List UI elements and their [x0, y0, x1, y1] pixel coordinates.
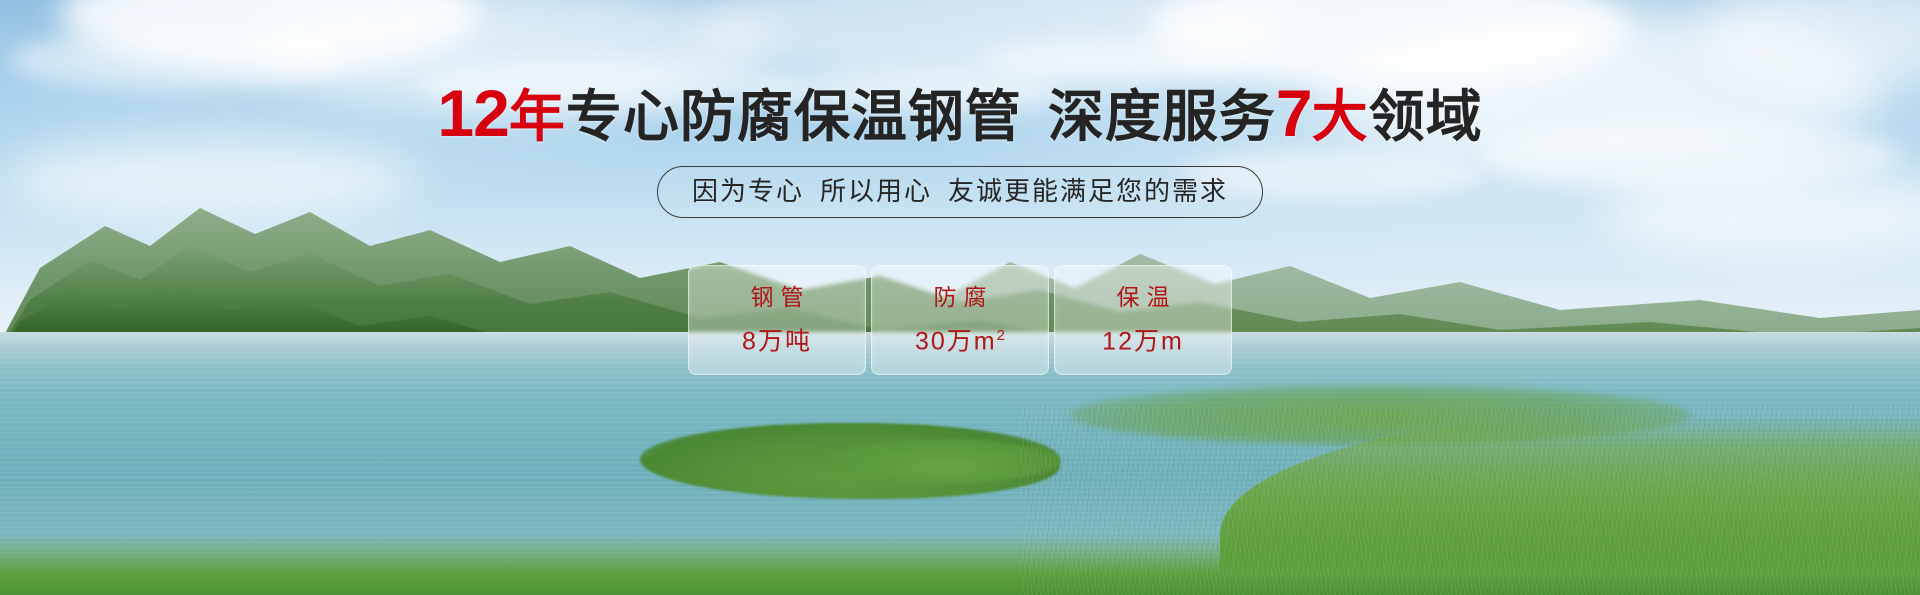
- headline-part-c: 大: [1312, 85, 1369, 148]
- stat-card-label: 防腐: [927, 284, 994, 310]
- stat-card: 防腐 30万m2: [871, 265, 1049, 375]
- headline-part-b: 深度服务: [1048, 85, 1276, 148]
- subtitle-segment-1: 因为专心: [692, 176, 804, 206]
- headline-part-a: 专心防腐保温钢管: [566, 85, 1022, 148]
- stat-card: 保温 12万m: [1054, 265, 1232, 375]
- stat-card-value-text: 30万m: [915, 328, 997, 356]
- stat-card-label: 保温: [1110, 284, 1177, 310]
- stat-card: 钢管 8万吨: [688, 265, 866, 375]
- stat-card-value: 8万吨: [742, 322, 812, 355]
- banner-subtitle-wrap: 因为专心所以用心友诚更能满足您的需求: [0, 166, 1920, 218]
- banner-subtitle-pill: 因为专心所以用心友诚更能满足您的需求: [657, 166, 1263, 218]
- stat-card-value: 12万m: [1102, 322, 1184, 355]
- stat-card-value-sup: 2: [997, 327, 1005, 344]
- subtitle-segment-2: 所以用心: [820, 176, 932, 206]
- headline-years-unit: 年: [509, 85, 566, 148]
- hero-banner: 12年专心防腐保温钢管深度服务7大领域 因为专心所以用心友诚更能满足您的需求 钢…: [0, 0, 1920, 595]
- headline-part-d: 领域: [1369, 85, 1483, 148]
- banner-headline: 12年专心防腐保温钢管深度服务7大领域: [0, 82, 1920, 148]
- stat-card-label: 钢管: [744, 284, 811, 310]
- stat-card-value-text: 8万吨: [742, 328, 812, 356]
- headline-seven-number: 7: [1276, 76, 1312, 150]
- stat-card-value: 30万m2: [915, 322, 1005, 355]
- stat-card-list: 钢管 8万吨 防腐 30万m2 保温 12万m: [0, 265, 1920, 375]
- banner-content: 12年专心防腐保温钢管深度服务7大领域 因为专心所以用心友诚更能满足您的需求 钢…: [0, 0, 1920, 595]
- headline-years-number: 12: [437, 76, 508, 150]
- subtitle-segment-3: 友诚更能满足您的需求: [948, 176, 1228, 206]
- stat-card-value-text: 12万m: [1102, 328, 1184, 356]
